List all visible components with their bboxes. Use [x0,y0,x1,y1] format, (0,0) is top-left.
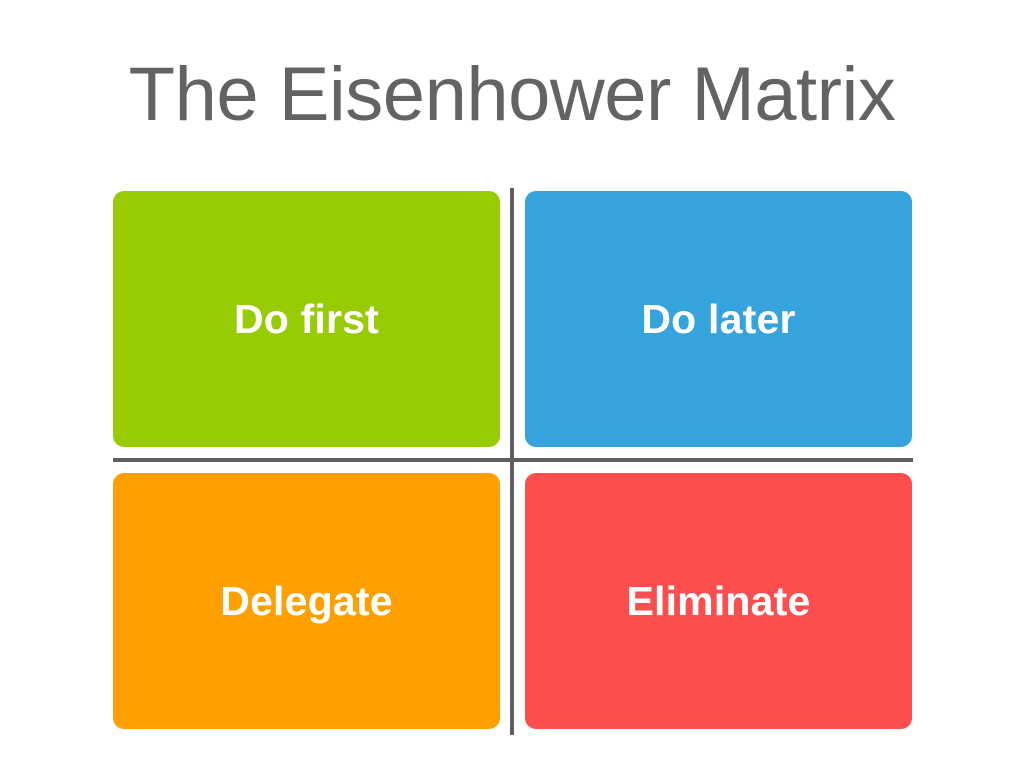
quadrant-delegate[interactable]: Delegate [113,473,500,729]
page-title: The Eisenhower Matrix [0,52,1024,138]
quadrant-label-do-later: Do later [641,296,795,342]
quadrant-do-first[interactable]: Do first [113,191,500,447]
quadrant-label-eliminate: Eliminate [626,578,810,624]
quadrant-eliminate[interactable]: Eliminate [525,473,912,729]
slide-canvas: The Eisenhower Matrix Do first Do later … [0,0,1024,768]
quadrant-label-delegate: Delegate [220,578,393,624]
divider-horizontal-line [113,458,913,462]
quadrant-label-do-first: Do first [234,296,379,342]
quadrant-do-later[interactable]: Do later [525,191,912,447]
